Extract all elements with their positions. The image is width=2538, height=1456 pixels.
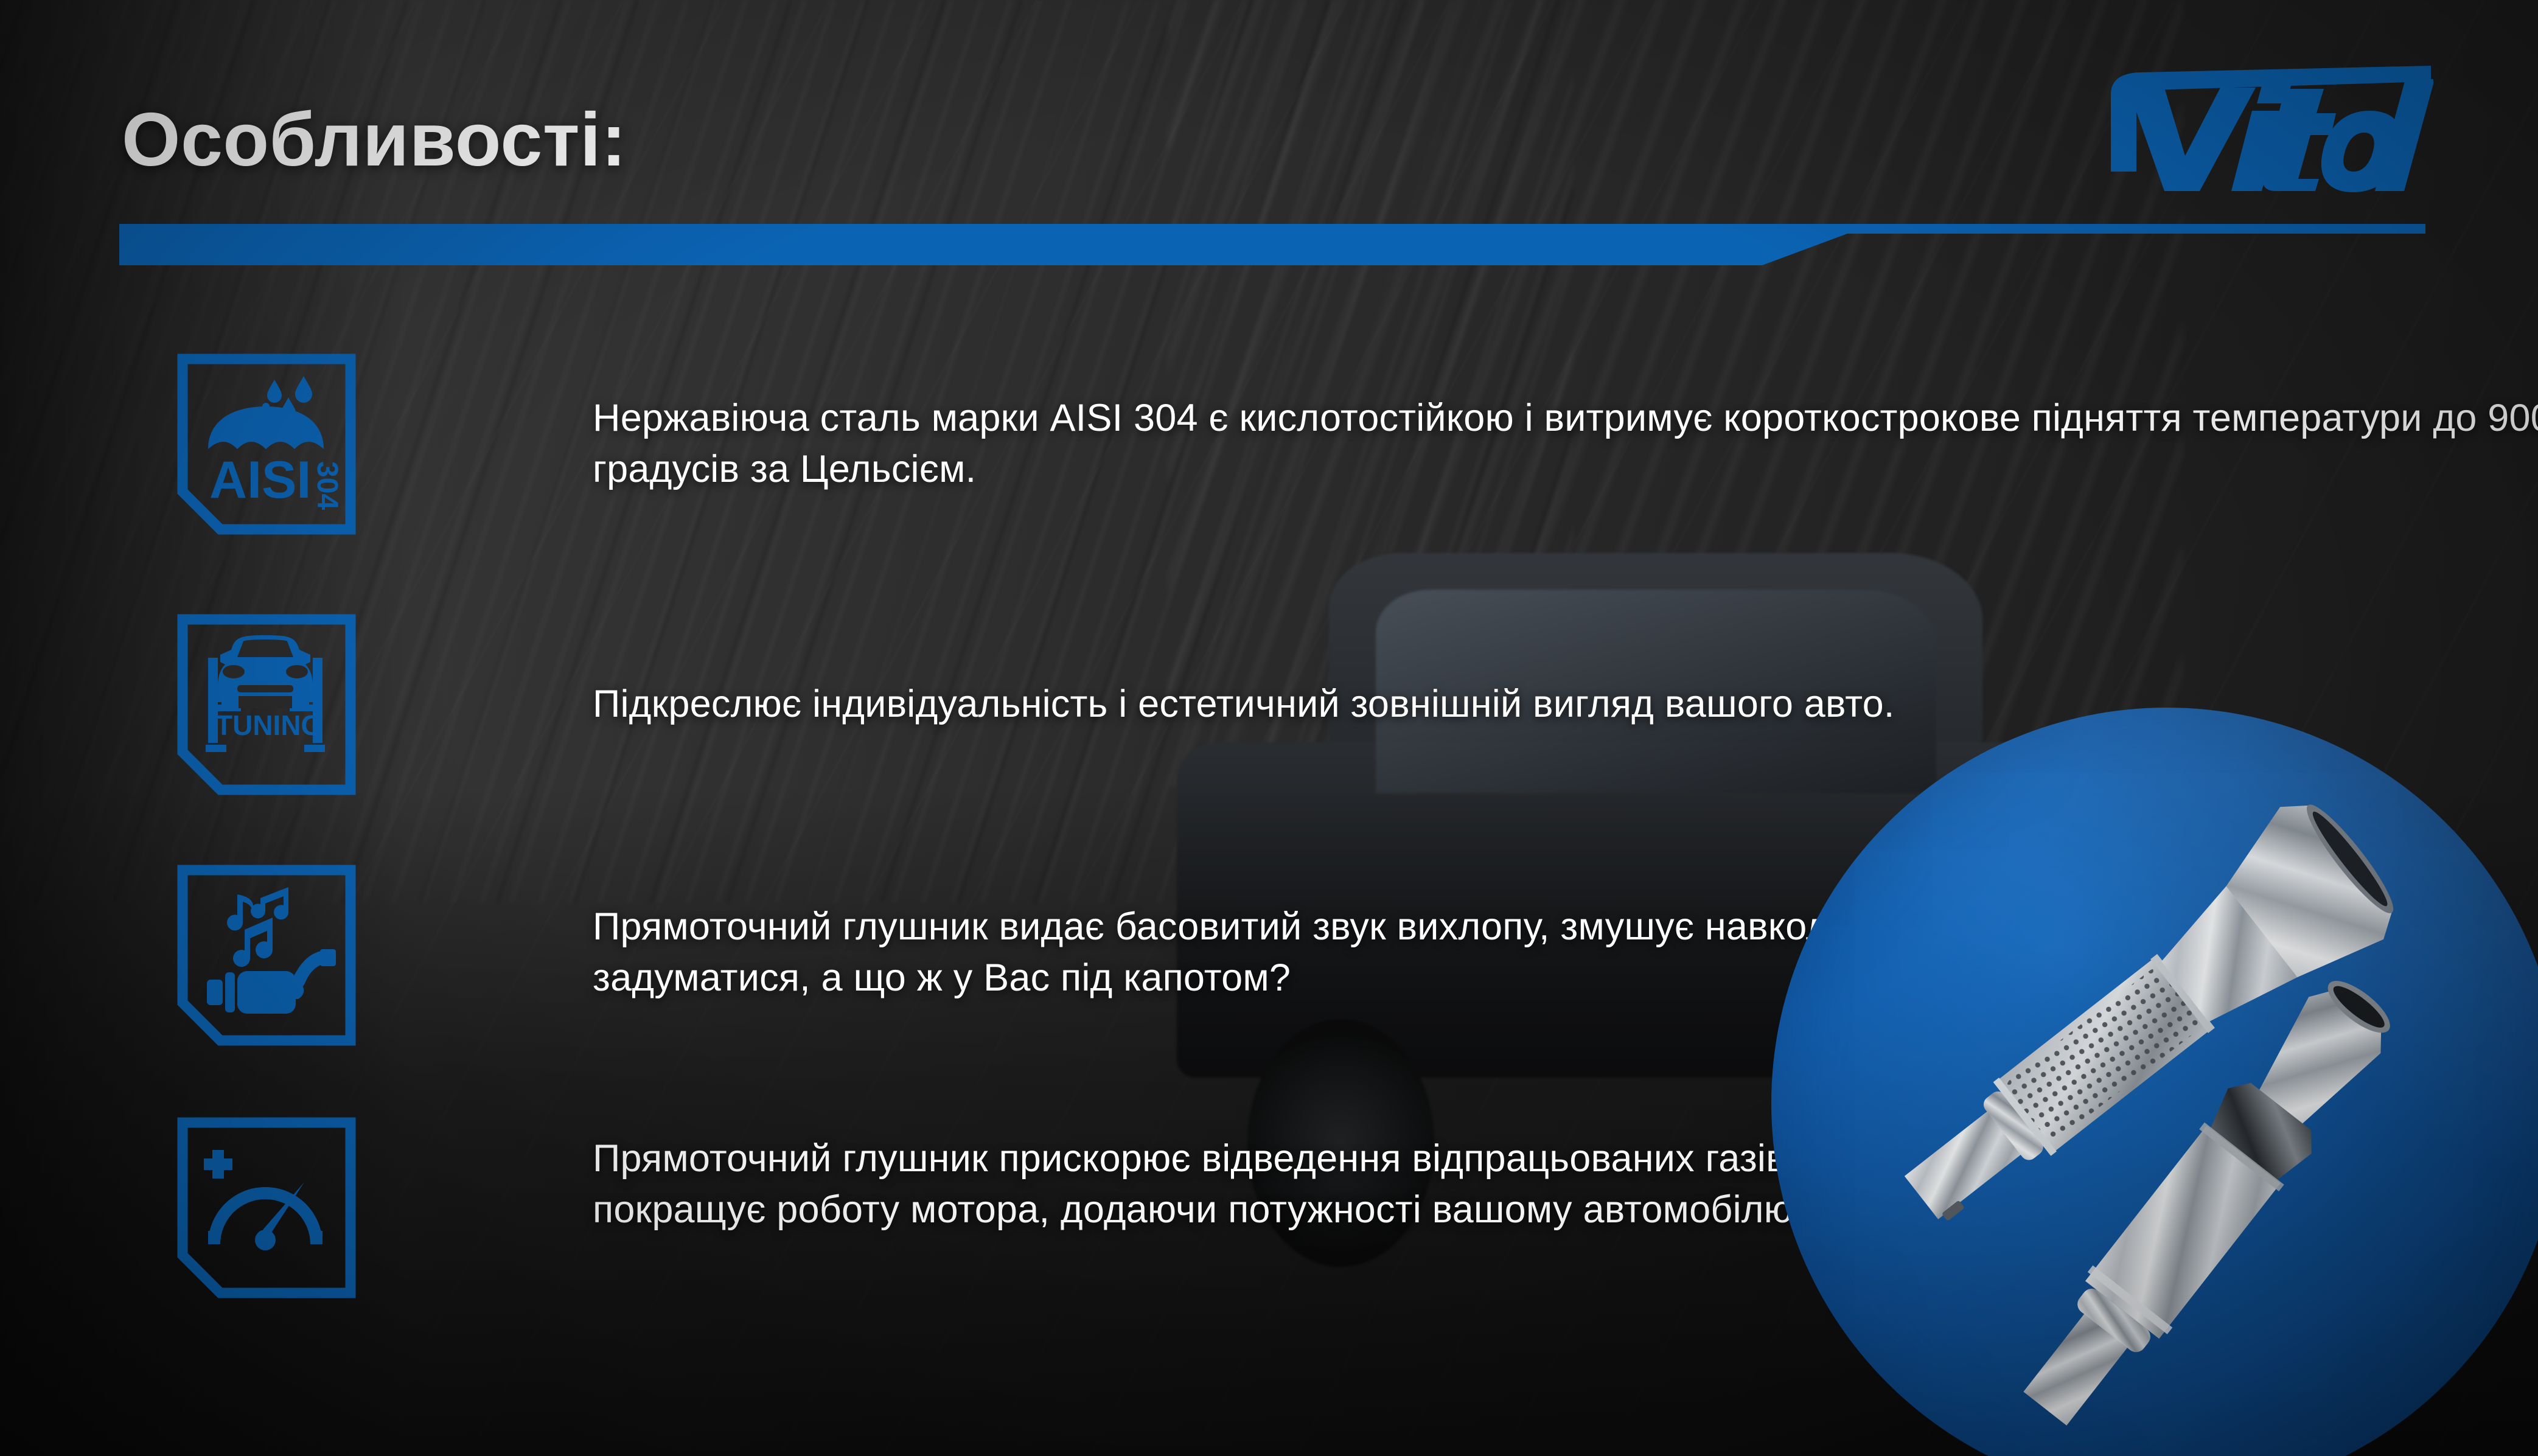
feature-row: Прямоточний глушник прискорює відведення… [174, 1116, 1931, 1299]
chrome-muffler-photo [1771, 708, 2538, 1456]
icon-sublabel: 304 [311, 461, 343, 510]
feature-row: AISI 304 Нержавіюча сталь марки AISI 304… [174, 353, 2538, 535]
car-tuning-lift-icon: TUNING [174, 613, 357, 796]
icon-label: AISI [209, 451, 311, 509]
feature-text: Нержавіюча сталь марки AISI 304 є кислот… [593, 393, 2538, 495]
feature-text: Прямоточний глушник прискорює відведення… [593, 1134, 1931, 1236]
speedometer-plus-icon [174, 1116, 357, 1299]
slide-canvas: Особливості: [0, 0, 2538, 1456]
aisi-304-umbrella-icon: AISI 304 [174, 353, 357, 535]
icon-label: TUNING [215, 709, 322, 741]
brand-logo [2093, 52, 2433, 204]
page-title: Особливості: [122, 100, 627, 179]
muffler-music-notes-icon [174, 864, 357, 1047]
title-divider [119, 224, 2425, 265]
muffler-parts-illustration [1771, 708, 2538, 1456]
